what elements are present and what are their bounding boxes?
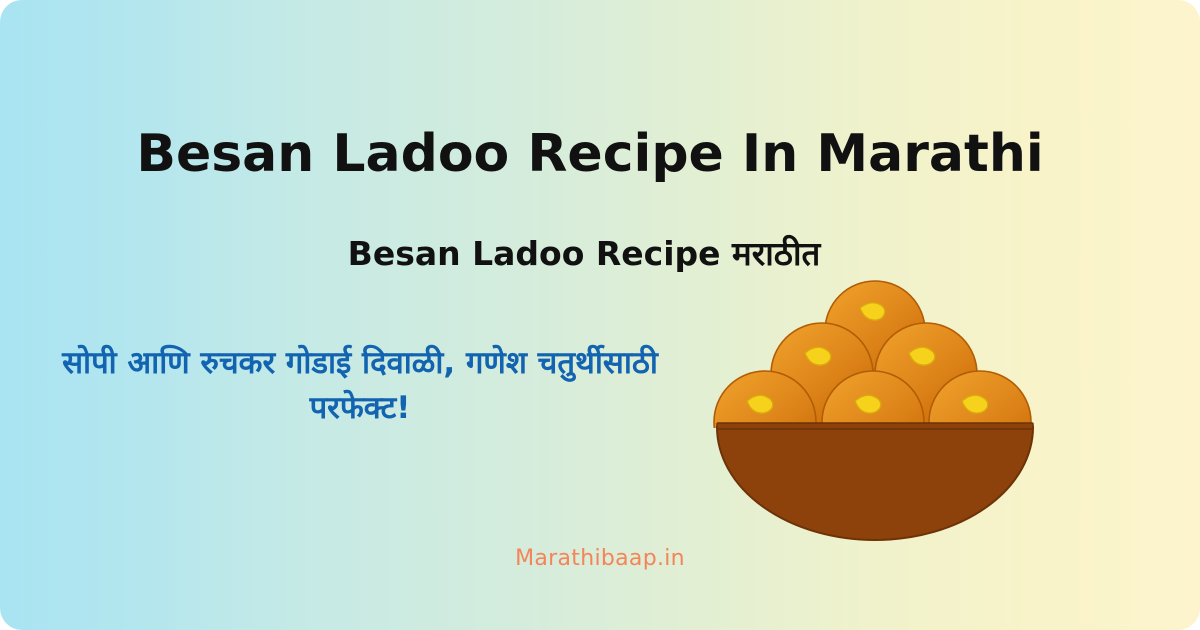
bowl-rim: [717, 423, 1033, 429]
tagline-text: सोपी आणि रुचकर गोडाई दिवाळी, गणेश चतुर्थ…: [26, 341, 694, 431]
ladoo-bowl-svg: [700, 262, 1050, 552]
recipe-banner-card: Besan Ladoo Recipe In Marathi Besan Lado…: [0, 0, 1200, 630]
bowl-body: [717, 427, 1033, 540]
page-title: Besan Ladoo Recipe In Marathi: [0, 127, 1180, 182]
ladoo-illustration: [700, 262, 1050, 552]
